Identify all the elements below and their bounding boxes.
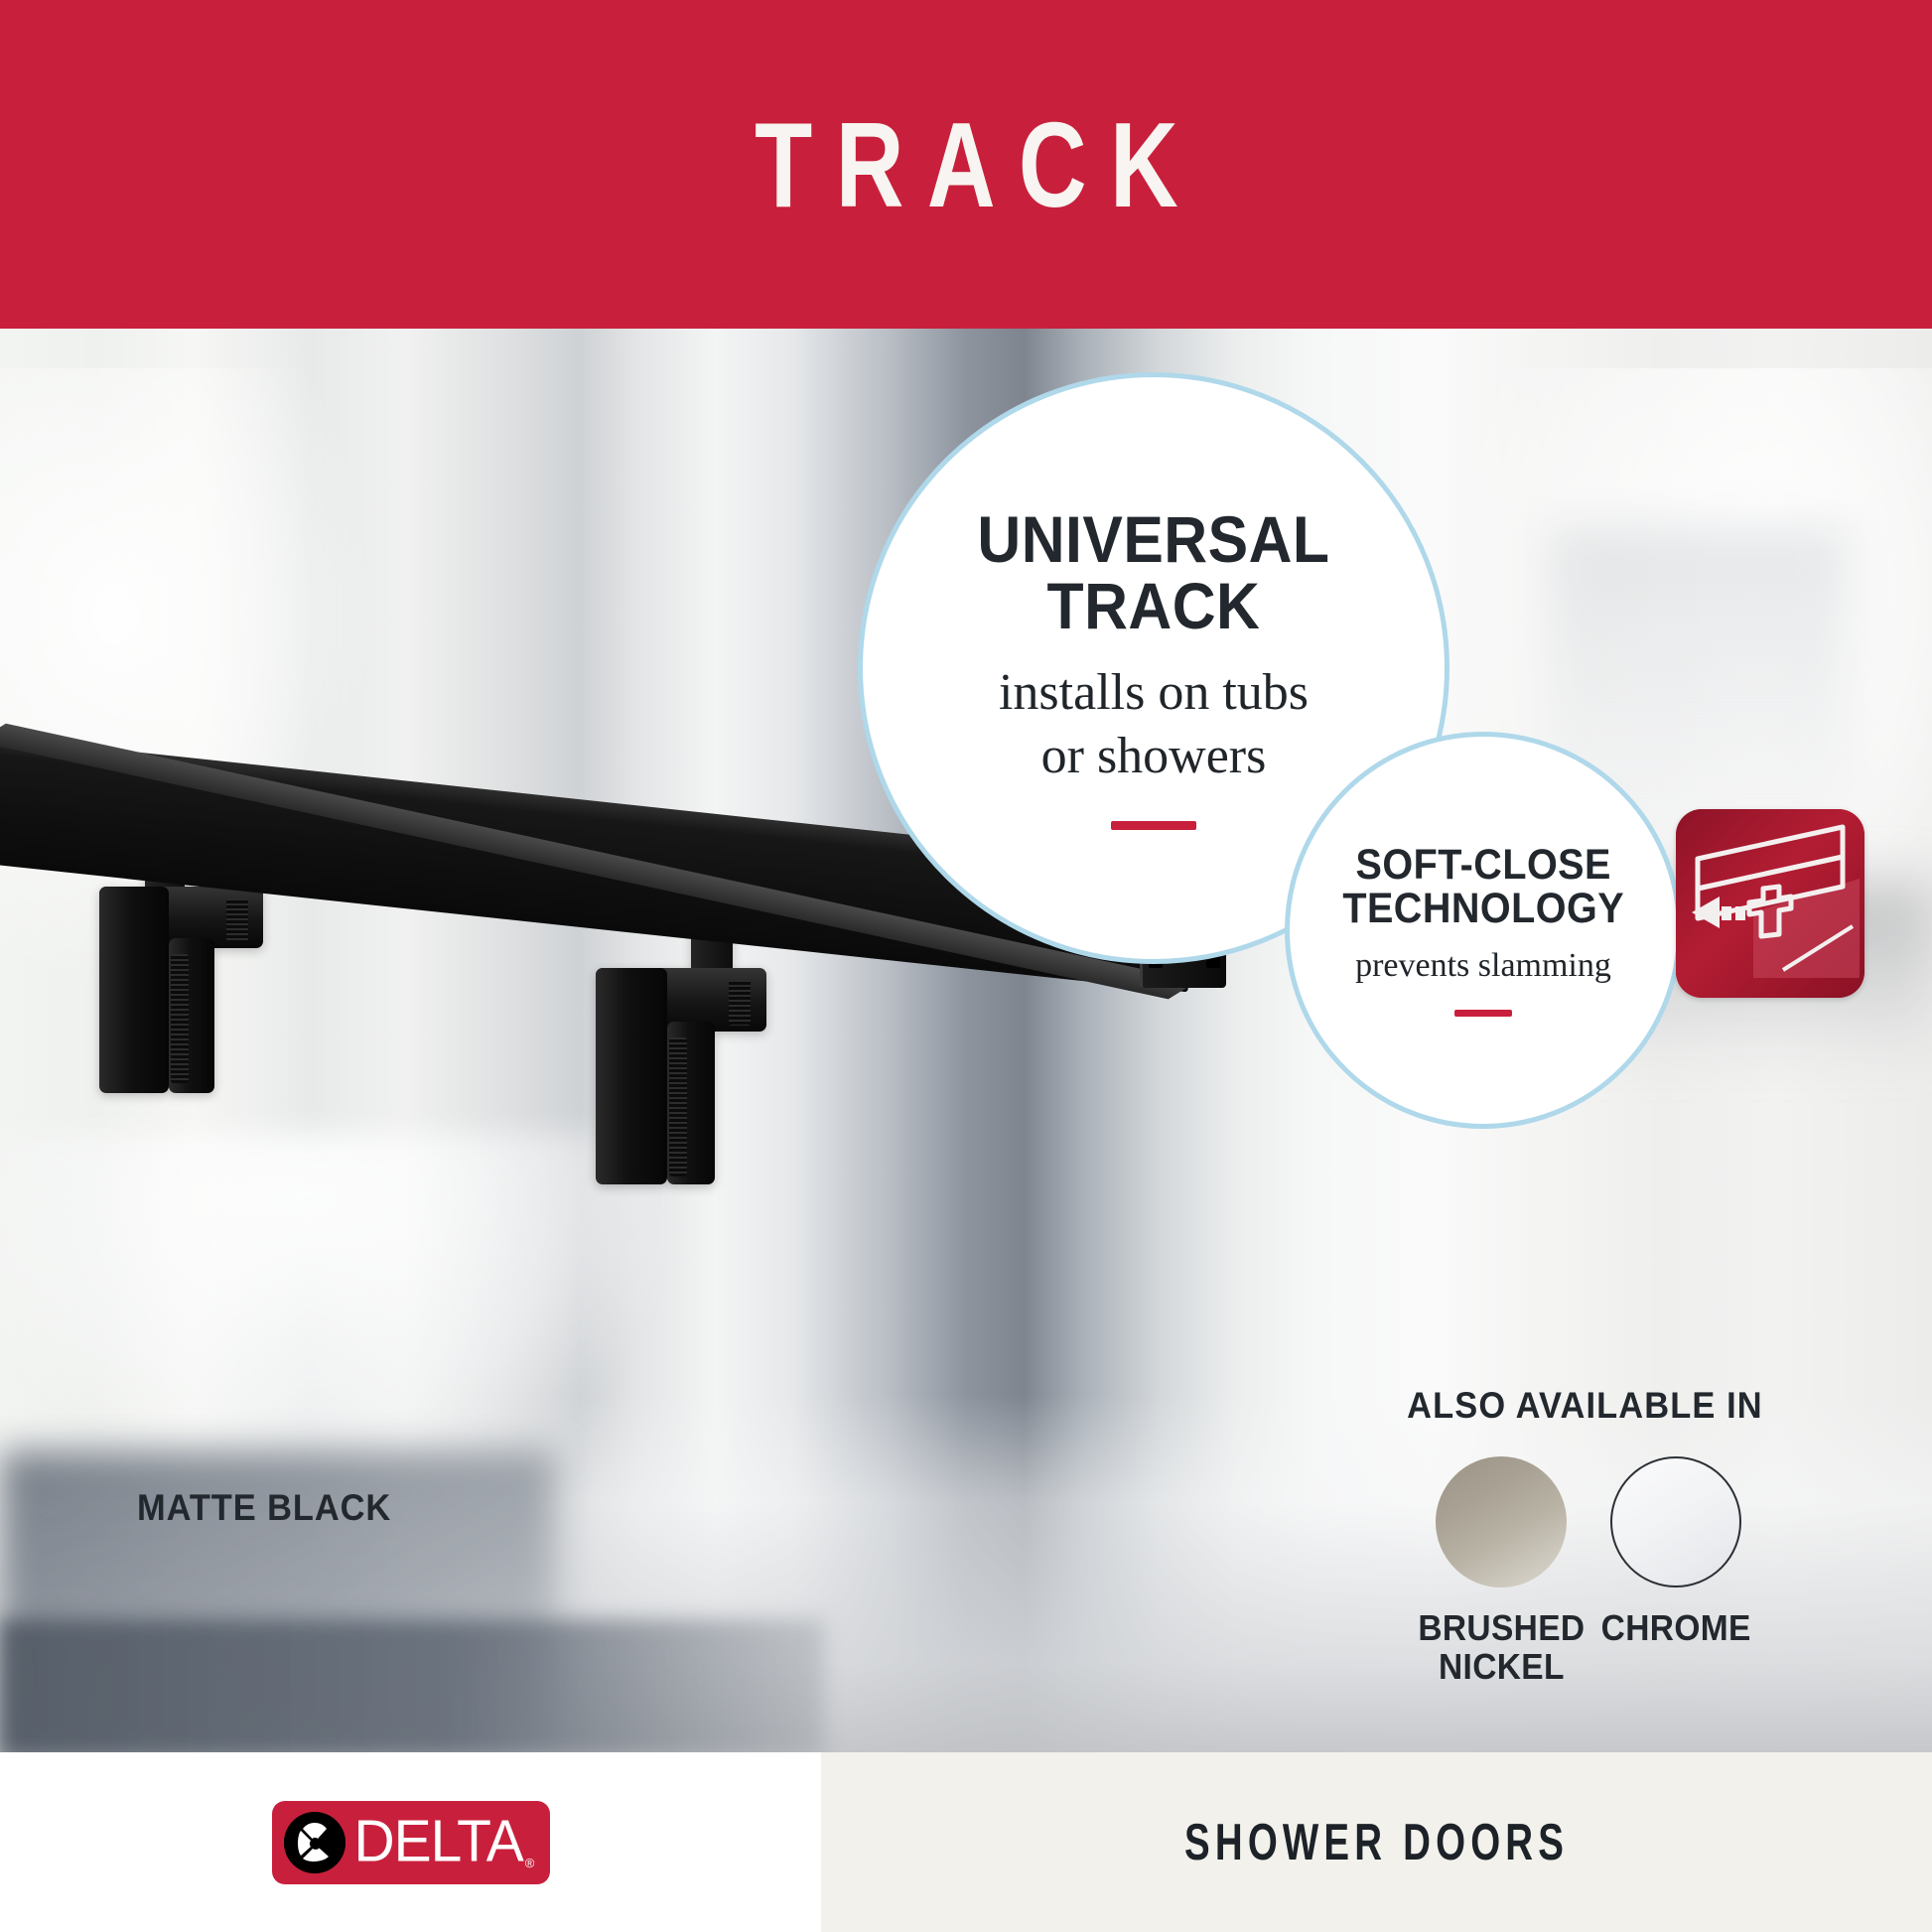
callout-soft-close-subtext: prevents slamming [1355,945,1611,986]
callout-universal-subtext: installs on tubs or showers [999,661,1309,787]
callout-soft-close-heading-line2: TECHNOLOGY [1342,888,1624,931]
bracket-grip-ridges [226,898,248,942]
roller-bracket-center [596,956,794,1194]
callout-soft-close: SOFT-CLOSE TECHNOLOGY prevents slamming [1285,732,1682,1129]
brushed-nickel-label-line2: NICKEL [1418,1648,1585,1687]
header-banner: TRACK [0,0,1932,329]
bracket-grip-ridges-lower [171,954,189,1083]
callout-universal-heading: UNIVERSAL TRACK [977,506,1329,640]
chrome-label: CHROME [1600,1609,1750,1648]
callout-soft-close-divider-rule [1454,1010,1512,1017]
callout-universal-divider-rule [1111,821,1196,830]
footer-bar: DELTA ® SHOWER DOORS [0,1752,1932,1932]
delta-logo: DELTA ® [272,1801,550,1884]
callout-universal-sub-line2: or showers [999,725,1309,787]
also-available-finishes: ALSO AVAILABLE IN BRUSHED NICKEL CHROME [1410,1385,1767,1687]
footer-brand-panel: DELTA ® [0,1752,821,1932]
delta-triangle-mark-icon [284,1812,345,1873]
page-title: TRACK [731,104,1200,225]
chrome-swatch-icon [1610,1456,1741,1587]
callout-universal-heading-line2: TRACK [977,573,1329,639]
brushed-nickel-swatch-icon [1436,1456,1567,1587]
product-photo-stage: MATTE BLACK UNIVERSAL TRACK installs on … [0,329,1932,1752]
finishes-title: ALSO AVAILABLE IN [1407,1385,1754,1427]
finish-option-chrome[interactable]: CHROME [1610,1456,1741,1687]
bracket-post [99,887,169,1093]
footer-category-panel: SHOWER DOORS [821,1752,1932,1932]
bracket-grip-ridges [729,980,751,1026]
finish-swatch-row: BRUSHED NICKEL CHROME [1410,1456,1767,1687]
callout-universal-heading-line1: UNIVERSAL [977,506,1329,573]
brushed-nickel-label-line1: BRUSHED [1418,1609,1585,1648]
bracket-post [596,968,667,1184]
footer-category-label: SHOWER DOORS [1184,1813,1569,1872]
callout-soft-close-heading: SOFT-CLOSE TECHNOLOGY [1342,844,1624,931]
brushed-nickel-label: BRUSHED NICKEL [1418,1609,1585,1687]
sliding-track-arrow-icon [1676,809,1864,998]
product-infographic: TRACK [0,0,1932,1932]
finish-option-brushed-nickel[interactable]: BRUSHED NICKEL [1436,1456,1567,1687]
bracket-grip-ridges-lower [669,1037,687,1176]
matte-black-finish-label: MATTE BLACK [137,1487,391,1529]
callout-soft-close-heading-line1: SOFT-CLOSE [1342,844,1624,888]
roller-bracket-left [99,877,288,1105]
registered-trademark-mark: ® [525,1856,535,1870]
blurred-dark-strip [0,1619,824,1752]
delta-wordmark: DELTA [354,1813,523,1871]
callout-universal-sub-line1: installs on tubs [999,661,1309,724]
